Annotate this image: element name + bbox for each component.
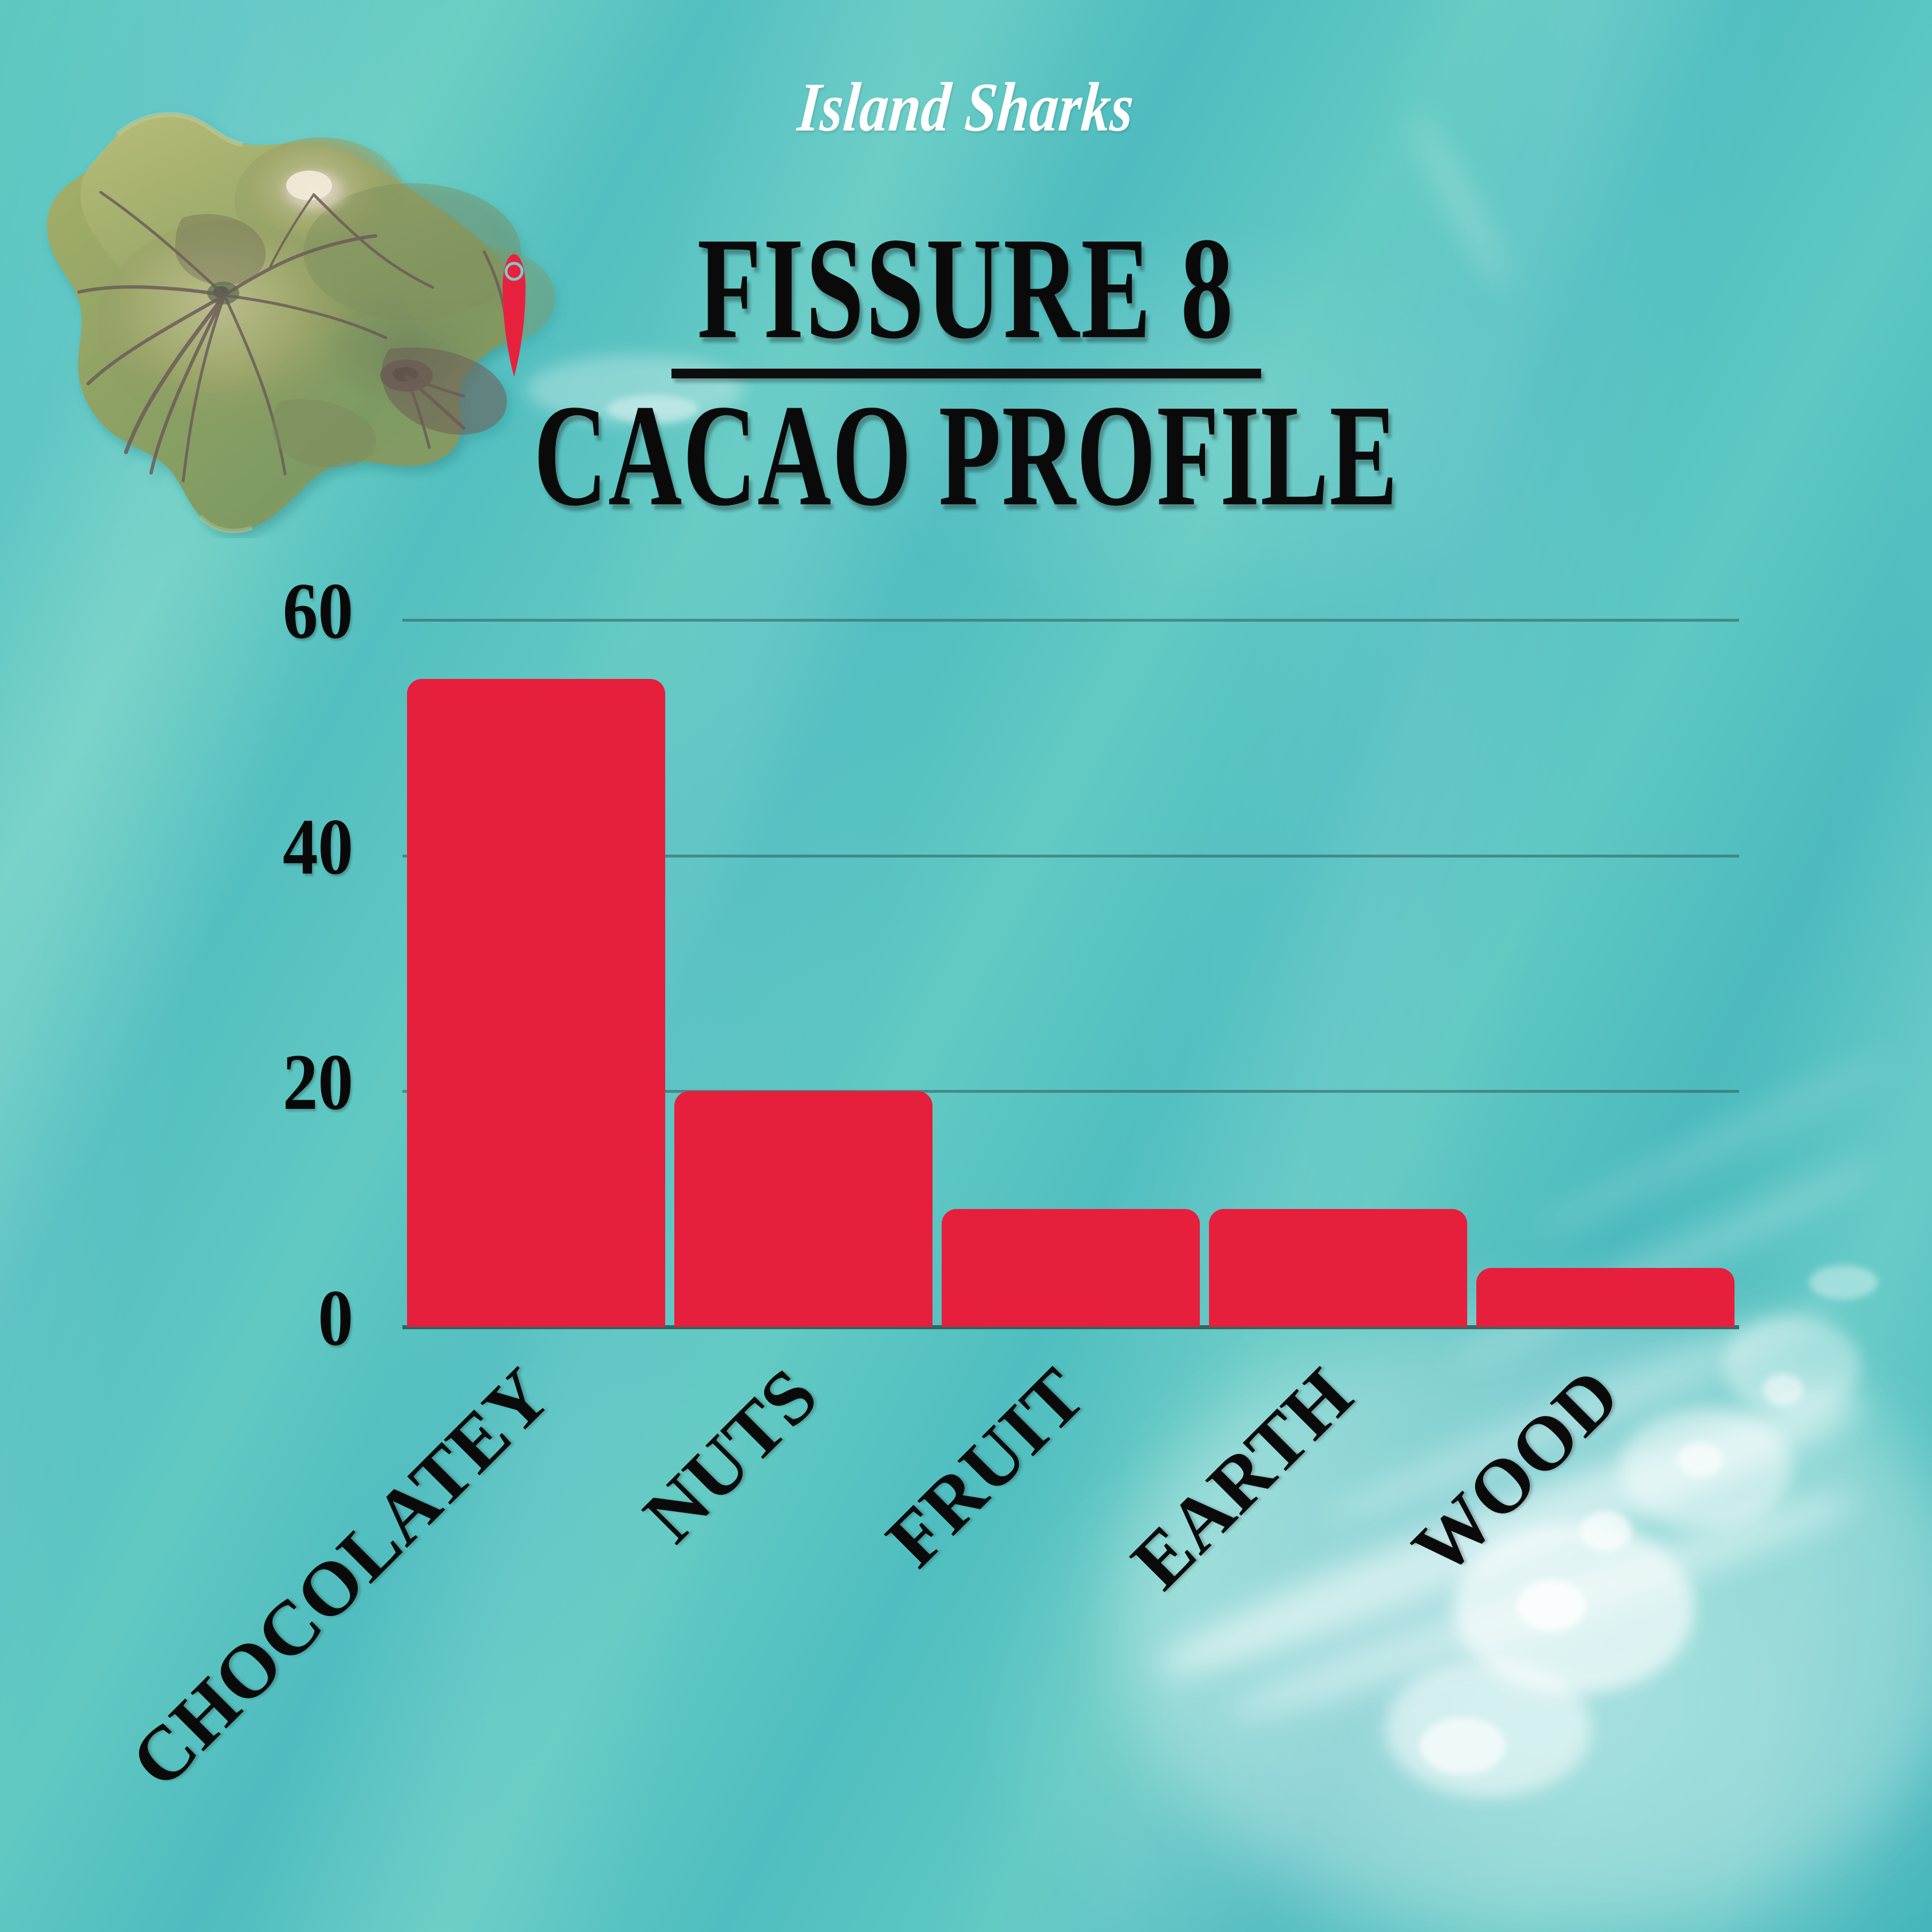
bar-chart: 0204060CHOCOLATEYNUTSFRUITEARTHWOOD: [0, 0, 1932, 1932]
gridline-60: [402, 619, 1739, 622]
x-axis-label-fruit: FRUIT: [869, 1351, 1102, 1584]
x-axis-label-chocolatey: CHOCOLATEY: [113, 1351, 567, 1805]
bar-earth[interactable]: [1209, 1209, 1467, 1327]
y-axis-tick-60: 60: [91, 565, 353, 657]
x-axis-label-earth: EARTH: [1114, 1351, 1369, 1606]
x-axis-label-wood: WOOD: [1395, 1351, 1637, 1593]
y-axis-tick-0: 0: [91, 1272, 353, 1364]
bar-wood[interactable]: [1476, 1268, 1735, 1327]
y-axis-tick-40: 40: [91, 801, 353, 893]
x-axis-label-nuts: NUTS: [626, 1351, 834, 1559]
bar-fruit[interactable]: [942, 1209, 1200, 1327]
bar-chocolatey[interactable]: [407, 679, 665, 1327]
bar-nuts[interactable]: [674, 1091, 933, 1327]
y-axis-tick-20: 20: [91, 1036, 353, 1128]
